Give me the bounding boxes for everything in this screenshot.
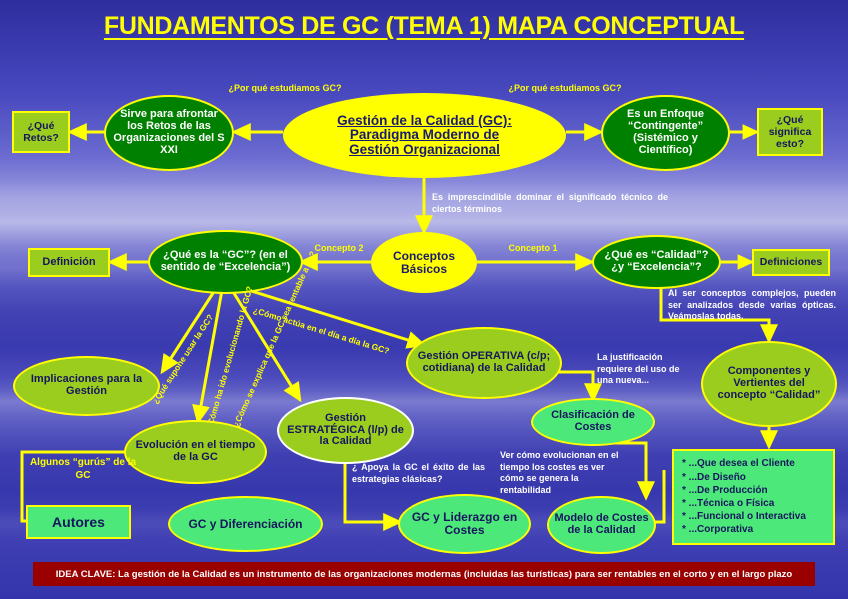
node-modelo-costes-calidad[interactable]: Modelo de Costes de la Calidad [547, 496, 656, 554]
node-clasificacion-costes[interactable]: Clasificación de Costes [531, 398, 655, 446]
node-gestion-estrategica[interactable]: Gestión ESTRATÉGICA (l/p) de la Calidad [277, 397, 414, 464]
label-es-imprescindible: Es imprescindible dominar el significado… [432, 192, 668, 215]
list-item: * ...Que desea el Cliente [682, 457, 825, 470]
page-title: FUNDAMENTOS DE GC (TEMA 1) MAPA CONCEPTU… [0, 12, 848, 41]
node-central[interactable]: Gestión de la Calidad (GC): Paradigma Mo… [283, 93, 566, 178]
node-implicaciones-gestion[interactable]: Implicaciones para la Gestión [13, 356, 160, 416]
label-apoya-la-gc: ¿ Apoya la GC el éxito de las estrategia… [352, 462, 485, 485]
node-central-line3: Gestión Organizacional [337, 143, 512, 158]
label-algunos-gurus: Algunos “gurús” de la GC [24, 457, 142, 482]
node-central-line1: Gestión de la Calidad (GC): [337, 114, 512, 129]
node-definicion[interactable]: Definición [28, 248, 110, 277]
node-central-line2: Paradigma Moderno de [337, 128, 512, 143]
concept-map-canvas: FUNDAMENTOS DE GC (TEMA 1) MAPA CONCEPTU… [0, 0, 848, 599]
node-sirve-para[interactable]: Sirve para afrontar los Retos de las Org… [104, 95, 234, 171]
list-item: * ...Corporativa [682, 523, 825, 536]
node-que-retos[interactable]: ¿Qué Retos? [12, 111, 70, 153]
node-enfoque-contingente[interactable]: Es un Enfoque “Contingente” (Sistémico y… [601, 95, 730, 171]
node-autores[interactable]: Autores [26, 505, 131, 539]
node-conceptos-basicos[interactable]: Conceptos Básicos [371, 232, 477, 293]
label-que-supone-usar: ¿Qué supone usar la GC? [150, 312, 216, 405]
label-la-justificacion: La justificación requiere del uso de una… [597, 352, 689, 387]
idea-clave-banner: IDEA CLAVE: La gestión de la Calidad es … [33, 562, 815, 586]
list-item: * ...De Producción [682, 484, 825, 497]
label-concepto-1: Concepto 1 [498, 243, 568, 254]
node-componentes-vertientes[interactable]: Componentes y Vertientes del concepto “C… [701, 341, 837, 427]
node-que-significa-esto[interactable]: ¿Qué significa esto? [757, 108, 823, 156]
list-item: * ...De Diseño [682, 471, 825, 484]
node-definiciones[interactable]: Definiciones [752, 249, 830, 276]
label-ver-como-evolucionan: Ver cómo evolucionan en el tiempo los co… [500, 450, 626, 497]
node-evolucion-tiempo[interactable]: Evolución en el tiempo de la GC [124, 420, 267, 484]
list-item: * ...Técnica o Física [682, 497, 825, 510]
node-que-es-calidad[interactable]: ¿Qué es “Calidad”? ¿y “Excelencia”? [592, 235, 721, 289]
question-right: ¿Por qué estudiamos GC? [475, 83, 655, 94]
list-item: * ...Funcional o Interactiva [682, 510, 825, 523]
node-gc-diferenciacion[interactable]: GC y Diferenciación [168, 496, 323, 552]
node-gc-liderazgo-costes[interactable]: GC y Liderazgo en Costes [398, 494, 531, 554]
node-que-es-gc[interactable]: ¿Qué es la “GC”? (en el sentido de “Exce… [148, 230, 303, 294]
question-left: ¿Por qué estudiamos GC? [195, 83, 375, 94]
node-gestion-operativa[interactable]: Gestión OPERATIVA (c/p; cotidiana) de la… [406, 327, 562, 399]
list-vertientes-calidad[interactable]: * ...Que desea el Cliente * ...De Diseño… [672, 449, 835, 545]
label-al-ser-conceptos: Al ser conceptos complejos, pueden ser a… [668, 288, 836, 323]
